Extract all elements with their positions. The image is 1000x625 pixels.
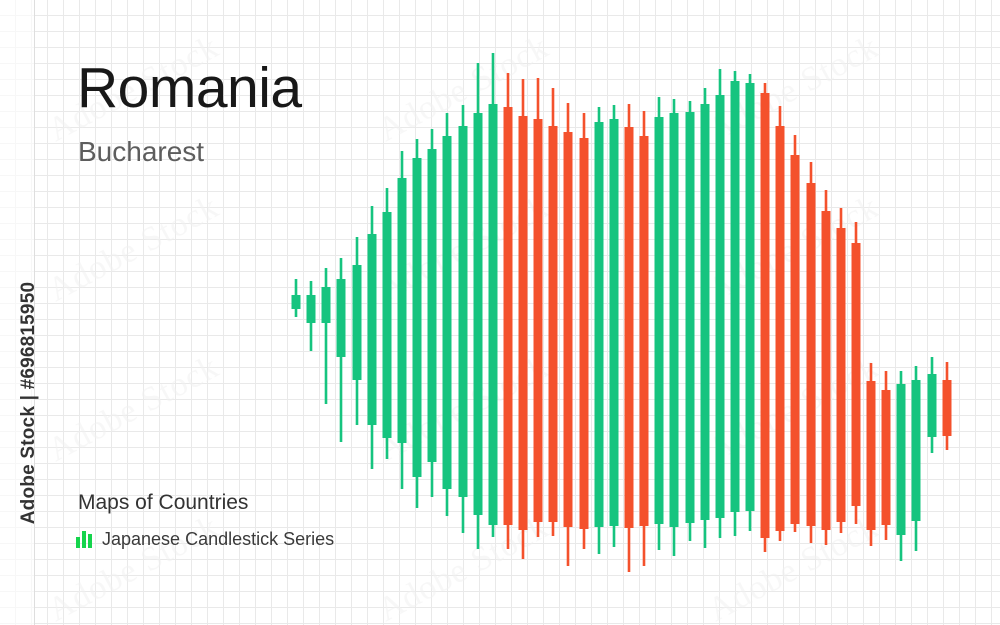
candle-wick — [537, 78, 540, 537]
watermark-text: Adobe Stock — [372, 508, 555, 625]
watermark-text: Adobe Stock — [42, 348, 225, 470]
candle-wick — [931, 357, 934, 453]
candle-wick — [915, 366, 918, 551]
candle-wick — [749, 74, 752, 531]
candle-body — [383, 212, 392, 438]
watermark-text: Adobe Stock — [702, 508, 885, 625]
candle-body — [807, 183, 816, 526]
candle-body — [852, 243, 861, 506]
candle-body — [912, 380, 921, 521]
watermark-text: Adobe Stock — [42, 508, 225, 625]
candle-wick — [446, 113, 449, 516]
candle-wick — [628, 104, 631, 572]
candle-wick — [673, 99, 676, 556]
candle-body — [731, 81, 740, 512]
legend-label: Japanese Candlestick Series — [102, 530, 334, 548]
candle-wick — [583, 113, 586, 549]
candle-wick — [310, 281, 313, 351]
candle-body — [428, 149, 437, 462]
candle-body — [292, 295, 301, 309]
candle-body — [413, 158, 422, 477]
candle-body — [610, 119, 619, 526]
candle-body — [353, 265, 362, 380]
candle-body — [504, 107, 513, 525]
candle-body — [716, 95, 725, 518]
candle-wick — [295, 279, 298, 317]
candle-wick — [340, 258, 343, 442]
candle-body — [822, 211, 831, 530]
candle-body — [776, 126, 785, 531]
watermark-text: Adobe Stock — [372, 28, 555, 150]
candle-body — [928, 374, 937, 437]
candle-body — [519, 116, 528, 530]
bar-chart-icon — [76, 531, 92, 548]
watermark-text: Adobe Stock — [702, 188, 885, 310]
candle-wick — [779, 106, 782, 541]
candle-wick — [689, 101, 692, 541]
candle-wick — [900, 371, 903, 561]
candle-body — [625, 127, 634, 528]
candle-body — [398, 178, 407, 443]
candle-wick — [567, 103, 570, 566]
legend: Japanese Candlestick Series — [76, 530, 334, 548]
candle-body — [534, 119, 543, 522]
candle-wick — [507, 73, 510, 549]
candle-wick — [840, 208, 843, 533]
candle-wick — [552, 88, 555, 536]
candle-body — [549, 126, 558, 522]
candle-wick — [613, 105, 616, 547]
candle-wick — [386, 188, 389, 459]
candle-body — [595, 122, 604, 527]
candle-wick — [810, 162, 813, 543]
candle-group — [292, 53, 952, 572]
candle-body — [322, 287, 331, 323]
candle-wick — [885, 371, 888, 540]
candle-body — [489, 104, 498, 525]
watermark-text: Adobe Stock — [372, 188, 555, 310]
candle-body — [761, 93, 770, 538]
candle-body — [368, 234, 377, 425]
candle-wick — [794, 135, 797, 532]
watermark-text: Adobe Stock — [372, 348, 555, 470]
candle-body — [307, 295, 316, 323]
candle-wick — [431, 129, 434, 497]
candle-body — [670, 113, 679, 527]
candle-wick — [946, 362, 949, 450]
candle-wick — [356, 237, 359, 425]
candle-body — [746, 83, 755, 511]
stock-image-canvas: Adobe StockAdobe StockAdobe StockAdobe S… — [0, 0, 1000, 625]
adobe-stock-credit: Adobe Stock | #696815950 — [18, 278, 40, 528]
candle-wick — [462, 105, 465, 533]
candle-wick — [416, 139, 419, 508]
candle-body — [655, 117, 664, 524]
candle-wick — [719, 69, 722, 538]
candle-wick — [477, 63, 480, 549]
candle-body — [443, 136, 452, 489]
candle-body — [686, 112, 695, 523]
candle-wick — [734, 71, 737, 536]
page-subtitle: Bucharest — [78, 138, 204, 166]
candle-wick — [643, 111, 646, 566]
watermark-text: Adobe Stock — [42, 188, 225, 310]
page-title: Romania — [77, 60, 302, 117]
candle-body — [640, 136, 649, 526]
candle-wick — [855, 222, 858, 524]
candle-body — [897, 384, 906, 535]
candle-wick — [492, 53, 495, 537]
watermark-text: Adobe Stock — [702, 28, 885, 150]
candle-body — [791, 155, 800, 524]
candle-wick — [522, 79, 525, 559]
candle-wick — [401, 151, 404, 489]
candle-body — [564, 132, 573, 527]
watermark-text: Adobe Stock — [702, 348, 885, 470]
candle-wick — [825, 190, 828, 545]
candle-wick — [764, 83, 767, 552]
candle-body — [867, 381, 876, 530]
candle-wick — [325, 268, 328, 404]
candle-wick — [704, 88, 707, 548]
candle-body — [474, 113, 483, 515]
candle-wick — [371, 206, 374, 469]
candle-body — [837, 228, 846, 522]
candle-body — [459, 126, 468, 497]
candle-wick — [870, 363, 873, 546]
candle-body — [882, 390, 891, 525]
series-heading: Maps of Countries — [78, 492, 248, 513]
candle-body — [701, 104, 710, 520]
candle-wick — [658, 97, 661, 550]
candle-body — [580, 138, 589, 529]
candle-wick — [598, 107, 601, 554]
left-rail: Adobe Stock | #696815950 — [0, 0, 35, 625]
candle-body — [943, 380, 952, 436]
candle-body — [337, 279, 346, 357]
